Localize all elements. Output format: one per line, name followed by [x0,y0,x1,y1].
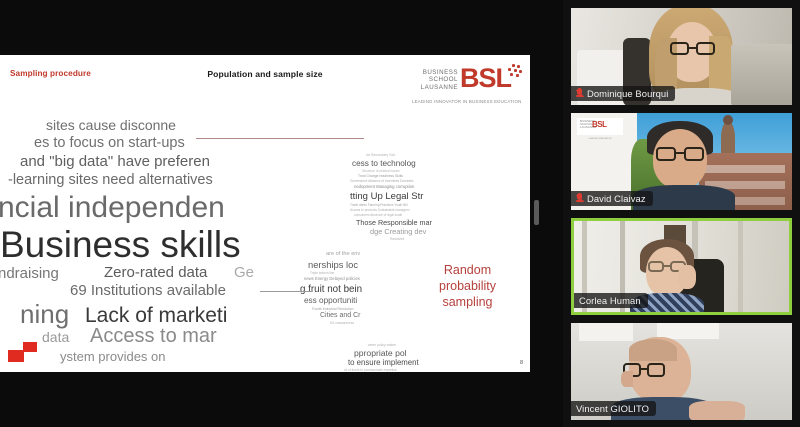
participant-tile[interactable]: Corlea Human [571,218,792,315]
slide-page-number: 8 [520,360,523,366]
word-cloud-term: ystem provides on [60,349,166,364]
word-cloud-term: Resolved [390,237,404,241]
word-cloud-term: Ge [234,264,254,281]
video-conference-window: Sampling procedure Population and sample… [0,0,800,427]
word-cloud-term: news Energy Delayed policies [304,276,360,281]
mic-muted-icon [576,193,583,204]
word-cloud-term: ncial independen [0,191,225,225]
mic-muted-icon [576,88,583,99]
cluster-connector-line [196,138,364,139]
word-cloud-term: -learning sites need alternatives [8,172,213,188]
word-cloud-term: cess to technolog [352,159,416,168]
participant-tile[interactable]: Dominique Bourqui [571,8,792,105]
word-cloud-term: 5G unawareness [330,321,354,325]
word-cloud-term: sites cause disconne [46,117,176,133]
bsl-overlay-tagline: LEADING INNOVATOR [580,138,620,140]
word-cloud-term: Trust Change readiness Skills [358,174,403,178]
participant-name: Corlea Human [579,295,641,306]
word-cloud-term: Structure Unrelated Issues [362,169,400,173]
red-step-logo-icon [8,342,42,362]
bsl-logo-words: BUSINESS SCHOOL LAUSANNE [412,69,458,91]
word-cloud-term: dge Creating dev [370,227,426,236]
word-cloud-term: tting Up Legal Str [350,191,423,202]
bsl-overlay-mark: BSL [592,120,607,129]
word-cloud-term: ning [20,299,69,330]
bsl-logo-tagline: LEADING INNOVATOR IN BUSINESS EDUCATION [412,99,516,104]
participant-tile[interactable]: BUSINESSSCHOOLLAUSANNEBSLLEADING INNOVAT… [571,113,792,210]
word-cloud-term: g fruit not bein [300,284,362,295]
participant-name-bar: Corlea Human [574,293,648,308]
word-cloud-term: Zero-rated data [104,264,207,281]
word-cloud-term: Those Responsible mar [356,218,432,227]
word-cloud-term: ppropriate pol [354,348,407,358]
word-cloud-term: ess opportuniti [304,296,357,305]
word-cloud-term: Fourth Industrial Revolution [312,307,353,311]
participant-name-bar: Vincent GIOLITO [571,401,656,416]
participant-name: David Claivaz [587,193,646,204]
word-cloud-term: nd Secondary Sch [366,153,395,157]
word-cloud-term: to ensure implement [348,358,419,367]
word-cloud-term: nerships loc [308,259,358,270]
word-cloud-term: Trade alerts Farming Practices Youth Bil… [350,203,407,207]
presentation-slide[interactable]: Sampling procedure Population and sample… [0,55,530,372]
bsl-logo-mark: BSL [460,65,511,92]
participant-name: Dominique Bourqui [587,88,668,99]
word-cloud-term: and "big data" have preferen [20,153,210,170]
slide-annotation: Random probability sampling [420,262,515,310]
word-cloud-term: Cities and Cr [320,312,360,319]
word-cloud-term: Business skills [0,224,241,266]
word-cloud-term: ween policy maker [368,343,396,347]
word-cloud-term: consumers Absence of legal scale [354,213,402,217]
participant-tile[interactable]: Vincent GIOLITO [571,323,792,420]
word-cloud-term: Triple bottom line [310,271,334,275]
word-cloud-term: Governance Absence of Incentives Domesti… [350,179,413,183]
participant-rail: Dominique Bourqui BUSINESSSCHOOLLAUSANNE… [563,0,800,427]
bsl-logo: BUSINESS SCHOOL LAUSANNE BSL LEADING INN… [412,63,516,109]
word-cloud-term: nedopment Managing corruption [354,184,414,189]
word-cloud-term: 69 Institutions available [70,282,226,299]
bsl-overlay-words: BUSINESSSCHOOLLAUSANNE [580,120,592,130]
participant-name-bar: Dominique Bourqui [571,86,675,101]
screen-share-stage[interactable]: Sampling procedure Population and sample… [0,0,563,427]
word-cloud-term: are of the env [326,251,360,257]
word-cloud-term: data [42,329,69,345]
word-cloud-term: ndraising [0,265,59,282]
bsl-logo-overlay: BUSINESSSCHOOLLAUSANNEBSLLEADING INNOVAT… [577,118,623,135]
word-cloud-term: Access to mar [90,325,217,348]
participant-name: Vincent GIOLITO [576,403,649,414]
word-cloud-term: ck of funds to communicate expertise [344,368,397,372]
participant-name-bar: David Claivaz [571,191,653,206]
word-cloud-term: es to focus on start-ups [34,135,185,151]
cluster-connector-line [260,291,312,292]
bsl-logo-dots-icon [506,64,522,80]
word-cloud-term: Access to products Sustainable managem [350,208,410,212]
share-scrollbar[interactable] [534,200,539,225]
